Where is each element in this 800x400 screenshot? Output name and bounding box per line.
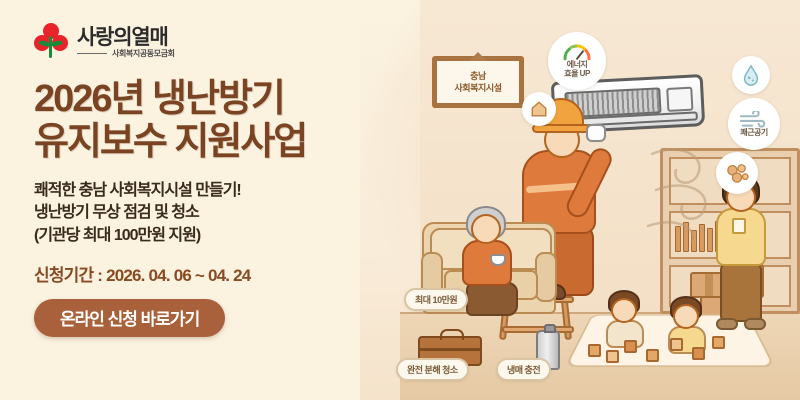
badge-fresh-air-label: 쾌근공기: [740, 129, 767, 138]
logo-text-block: 사랑의열매 사회복지공동모금회: [77, 27, 175, 58]
badge-energy-efficiency: 에너지 효율 UP: [548, 32, 606, 90]
subcopy-line-1: 쾌적한 충남 사회복지시설 만들기!: [34, 180, 380, 203]
staff-character: [708, 174, 774, 334]
ac-panel: [666, 87, 693, 112]
toy-blocks: [588, 330, 738, 364]
water-drop-icon: [741, 64, 761, 86]
badge-water-drop: [732, 56, 770, 94]
toolbox-latch: [420, 348, 480, 351]
cylinder-valve: [544, 324, 556, 333]
staff-shoe: [716, 318, 738, 330]
subcopy-block: 쾌적한 충남 사회복지시설 만들기! 냉난방기 무상 점검 및 청소 (기관당 …: [34, 180, 380, 248]
staff-pants: [720, 262, 762, 322]
pill-refrigerant-charge: 냉매 충전: [496, 358, 551, 381]
badge-fresh-air: 쾌근공기: [728, 98, 780, 150]
elderly-woman-skirt: [466, 282, 518, 316]
badge-home: [522, 92, 556, 126]
subcopy-line-3: (기관당 최대 100만원 지원): [34, 225, 380, 248]
headline-line-1: 2026년 냉난방기: [34, 78, 380, 121]
headline-line-2: 유지보수 지원사업: [34, 121, 380, 164]
application-period: 신청기간 : 2026. 04. 06 ~ 04. 24: [34, 261, 380, 286]
logo-subtitle: 사회복지공동모금회: [112, 50, 175, 58]
sofa-armrest: [535, 252, 557, 302]
promo-banner: 충남 사회복지시설: [0, 0, 800, 400]
subcopy-line-2: 냉난방기 무상 점검 및 청소: [34, 202, 380, 225]
wall-sign-line2: 사회복지시설: [454, 83, 501, 93]
logo-subtitle-row: 사회복지공동모금회: [77, 50, 175, 58]
page-title: 2026년 냉난방기 유지보수 지원사업: [34, 78, 380, 165]
text-column: 사랑의열매 사회복지공동모금회 2026년 냉난방기 유지보수 지원사업 쾌적한…: [0, 0, 380, 400]
child-face: [611, 298, 637, 323]
wind-icon: [739, 111, 769, 129]
organization-logo: 사랑의열매 사회복지공동모금회: [34, 20, 380, 64]
staff-shirt: [716, 208, 766, 266]
badge-energy-label: 에너지 효율 UP: [564, 61, 590, 79]
staff-id-badge: [732, 218, 746, 234]
toolbox-handle: [440, 329, 464, 340]
fruit-of-love-icon: [34, 23, 68, 61]
logo-name: 사랑의열매: [77, 27, 175, 48]
wall-sign-line1: 충남: [470, 71, 486, 81]
elderly-woman-face: [471, 214, 501, 244]
house-icon: [530, 100, 548, 118]
illustration-scene: 충남 사회복지시설: [360, 0, 800, 400]
work-glove-icon: [586, 124, 606, 142]
pill-full-disassembly-cleaning: 완전 분해 청소: [396, 358, 469, 381]
badge-dust-particles: [716, 152, 758, 194]
gauge-meter-icon: [562, 43, 592, 61]
online-application-button[interactable]: 온라인 신청 바로가기: [34, 299, 225, 337]
dust-particles-icon: [724, 162, 750, 184]
logo-divider: [77, 53, 107, 54]
stem-icon: [49, 36, 52, 58]
tea-cup-icon: [490, 254, 506, 266]
staff-shoe: [744, 318, 766, 330]
pill-max-support-amount: 최대 10만원: [404, 288, 468, 311]
child-face: [673, 304, 699, 329]
sign-hook-icon: [469, 52, 487, 61]
